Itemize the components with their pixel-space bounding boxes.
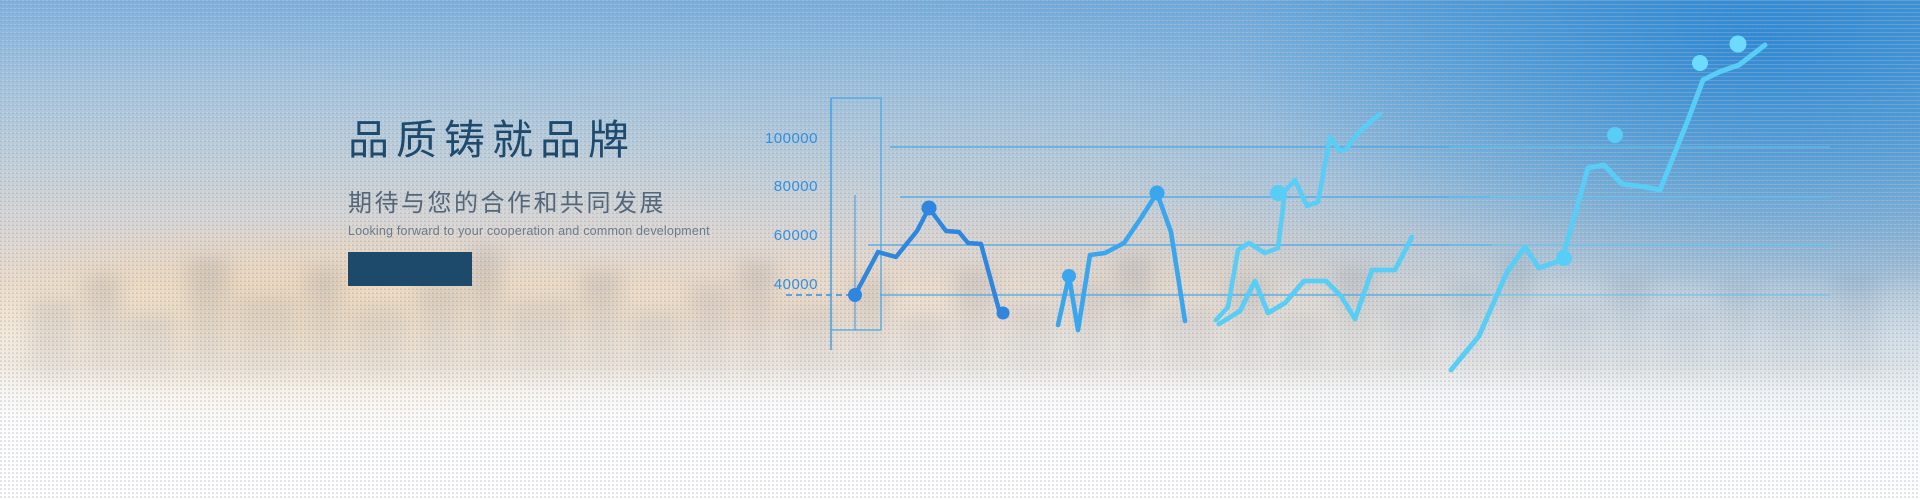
scanline-overlay: [0, 0, 1920, 500]
subtitle-en: Looking forward to your cooperation and …: [348, 225, 768, 238]
subtitle-zh: 期待与您的合作和共同发展: [348, 192, 768, 216]
hero-banner: 品质铸就品牌 期待与您的合作和共同发展 Looking forward to y…: [0, 0, 1920, 500]
hero-copy-block: 品质铸就品牌 期待与您的合作和共同发展 Looking forward to y…: [348, 120, 768, 238]
cta-button[interactable]: [348, 252, 472, 286]
page-title: 品质铸就品牌: [348, 120, 768, 161]
